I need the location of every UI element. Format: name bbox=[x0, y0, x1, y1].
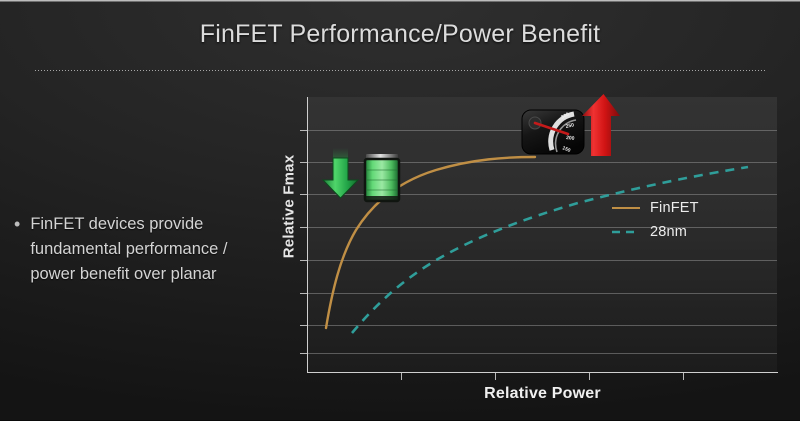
legend-line-swatch-finfet bbox=[611, 203, 641, 213]
y-axis-tick bbox=[300, 130, 307, 131]
legend-label: FinFET bbox=[650, 200, 699, 216]
title-divider bbox=[35, 70, 765, 71]
x-axis-tick bbox=[589, 373, 590, 380]
x-axis-line bbox=[307, 372, 778, 373]
legend-item-28nm[interactable]: 28nm bbox=[611, 224, 699, 240]
performance-power-chart: FinFET 28nm bbox=[266, 88, 786, 408]
x-axis-tick bbox=[683, 373, 684, 380]
y-axis-tick bbox=[300, 353, 307, 354]
legend-label: 28nm bbox=[650, 224, 687, 240]
x-axis-tick bbox=[495, 373, 496, 380]
legend-item-finfet[interactable]: FinFET bbox=[611, 200, 699, 216]
y-axis-tick bbox=[300, 227, 307, 228]
up-arrow-icon bbox=[582, 94, 620, 156]
x-axis-label: Relative Power bbox=[307, 385, 778, 403]
power-reduction-annotation bbox=[318, 146, 406, 214]
performance-increase-annotation: 300 250 200 150 bbox=[518, 90, 622, 168]
bullet-list: • FinFET devices provide fundamental per… bbox=[14, 212, 259, 287]
x-axis-tick bbox=[401, 373, 402, 380]
y-axis-tick bbox=[300, 293, 307, 294]
series-path-28nm bbox=[352, 167, 748, 333]
slide-top-border bbox=[0, 0, 800, 2]
chart-legend: FinFET 28nm bbox=[611, 200, 699, 240]
legend-line-swatch-28nm bbox=[611, 227, 641, 237]
y-axis-tick bbox=[300, 162, 307, 163]
svg-text:200: 200 bbox=[566, 135, 575, 142]
y-axis-tick bbox=[300, 325, 307, 326]
down-arrow-icon bbox=[323, 158, 358, 198]
y-axis-tick bbox=[300, 194, 307, 195]
bullet-item-text: FinFET devices provide fundamental perfo… bbox=[30, 212, 259, 287]
bullet-marker: • bbox=[14, 214, 20, 234]
y-axis-label: Relative Fmax bbox=[281, 132, 298, 282]
page-title: FinFET Performance/Power Benefit bbox=[0, 20, 800, 49]
y-axis-tick bbox=[300, 260, 307, 261]
slide-canvas: FinFET Performance/Power Benefit • FinFE… bbox=[0, 0, 800, 421]
